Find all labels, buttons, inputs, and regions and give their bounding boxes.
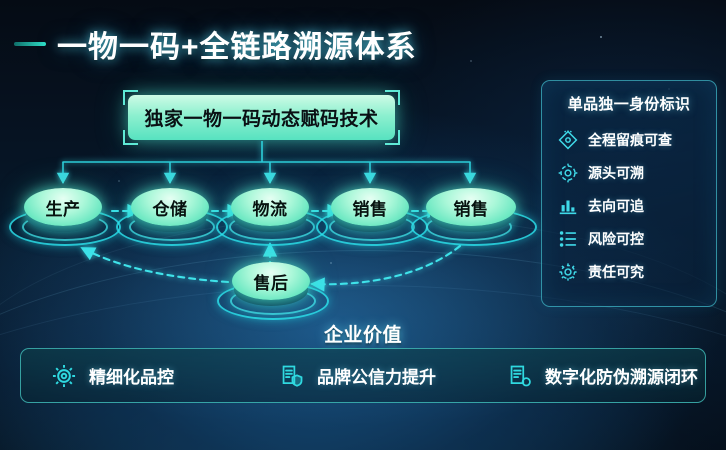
value-label: 数字化防伪溯源闭环 — [545, 363, 698, 388]
identity-feature-panel: 单品独一身份标识 全程留痕可查 源头可溯 — [541, 80, 717, 307]
value-item-brand-credibility[interactable]: 品牌公信力提升 — [249, 363, 477, 389]
title-block: 一物一码+全链路溯源体系 — [14, 22, 417, 66]
diamond-eye-icon — [557, 129, 579, 151]
feature-item-source-traceable[interactable]: 源头可溯 — [552, 156, 706, 189]
value-panel: 精细化品控 品牌公信力提升 数字化防伪溯源闭环 — [20, 348, 706, 403]
value-label: 精细化品控 — [89, 363, 174, 388]
bar-chart-icon — [557, 195, 579, 217]
chain-node-label: 销售 — [454, 195, 489, 220]
node-cap: 物流 — [231, 188, 309, 226]
chain-node-label: 物流 — [253, 195, 288, 220]
hero-tech-box: 独家一物一码动态赋码技术 — [128, 95, 395, 140]
infographic-canvas: 一物一码+全链路溯源体系 独家一物一码动态赋码技术 — [0, 0, 726, 450]
feature-label: 去向可追 — [588, 196, 644, 216]
hero-label: 独家一物一码动态赋码技术 — [144, 104, 378, 131]
chain-node-label: 仓储 — [153, 195, 188, 220]
page-title: 一物一码+全链路溯源体系 — [57, 22, 417, 66]
feature-label: 全程留痕可查 — [588, 130, 672, 150]
value-item-digital-closed-loop[interactable]: 数字化防伪溯源闭环 — [477, 363, 705, 389]
feature-label: 责任可究 — [588, 262, 644, 282]
gear-icon — [557, 261, 579, 283]
node-cap: 生产 — [24, 188, 102, 226]
corner-bracket-icon — [385, 130, 400, 145]
corner-bracket-icon — [123, 90, 138, 105]
document-check-icon — [507, 363, 533, 389]
feature-item-traceable-record[interactable]: 全程留痕可查 — [552, 123, 706, 156]
checklist-icon — [557, 228, 579, 250]
star-dot — [330, 262, 332, 264]
feature-item-risk-controllable[interactable]: 风险可控 — [552, 222, 706, 255]
node-cap: 销售 — [331, 188, 409, 226]
corner-bracket-icon — [385, 90, 400, 105]
chain-node-production[interactable]: 生产 — [20, 188, 106, 234]
node-cap: 仓储 — [131, 188, 209, 226]
chain-node-label: 销售 — [353, 195, 388, 220]
right-panel-title: 单品独一身份标识 — [552, 93, 706, 114]
value-label: 品牌公信力提升 — [317, 363, 436, 388]
node-cap: 销售 — [426, 188, 516, 226]
gear-sun-icon — [51, 363, 77, 389]
value-section-title: 企业价值 — [0, 320, 726, 347]
radar-target-icon — [557, 162, 579, 184]
chain-node-aftersales[interactable]: 售后 — [228, 262, 314, 308]
star-dot — [600, 36, 602, 38]
chain-node-sales[interactable]: 销售 — [327, 188, 413, 234]
value-item-quality-control[interactable]: 精细化品控 — [21, 363, 249, 389]
chain-node-warehouse[interactable]: 仓储 — [127, 188, 213, 234]
node-cap: 售后 — [232, 262, 310, 300]
feature-label: 源头可溯 — [588, 163, 644, 183]
chain-node-label: 售后 — [254, 269, 289, 294]
chain-node-logistics[interactable]: 物流 — [227, 188, 313, 234]
feature-item-destination-trackable[interactable]: 去向可追 — [552, 189, 706, 222]
feature-item-accountability[interactable]: 责任可究 — [552, 255, 706, 288]
star-dot — [470, 60, 472, 62]
feature-label: 风险可控 — [588, 229, 644, 249]
star-dot — [118, 180, 120, 182]
chain-node-label: 生产 — [46, 195, 81, 220]
title-accent-dash — [14, 42, 46, 46]
document-shield-icon — [279, 363, 305, 389]
chain-node-sales-2[interactable]: 销售 — [424, 188, 520, 234]
corner-bracket-icon — [123, 130, 138, 145]
